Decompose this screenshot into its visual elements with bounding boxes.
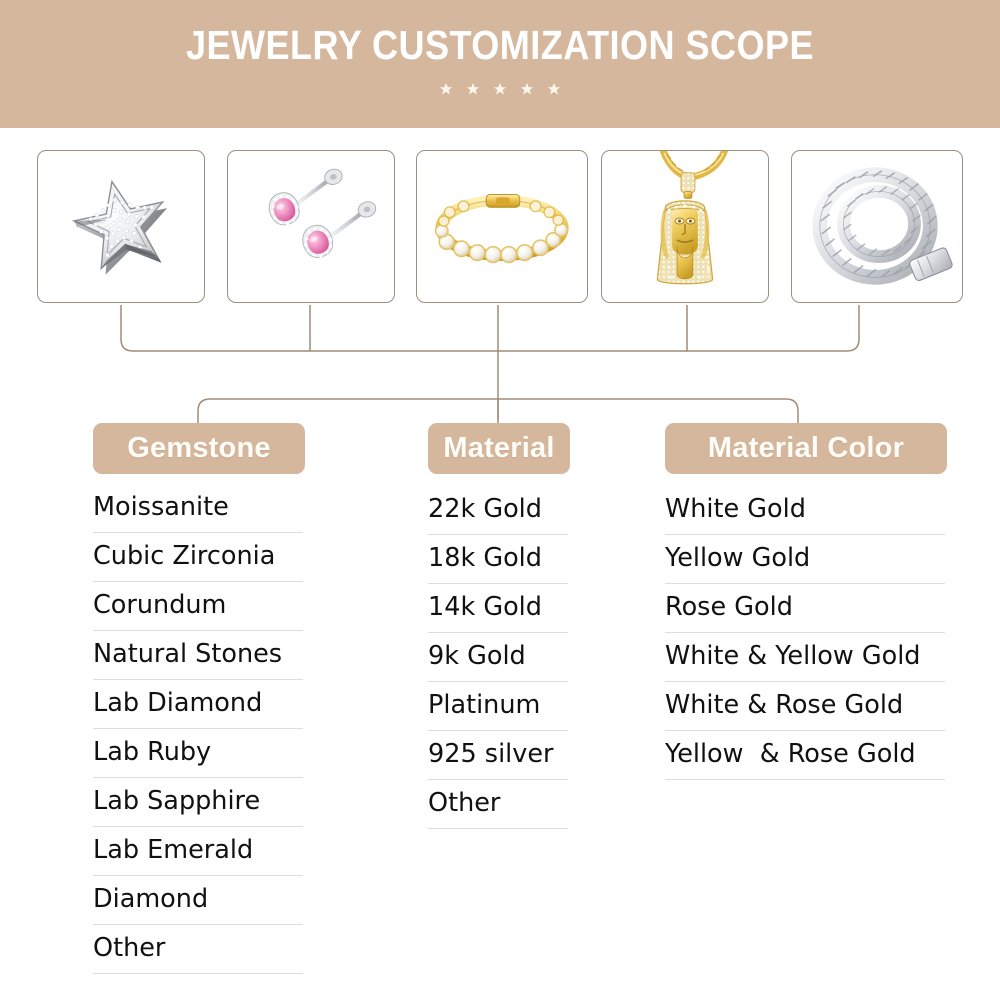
- list-item[interactable]: Other: [428, 780, 568, 829]
- star-pendant-image: [38, 151, 204, 302]
- list-item[interactable]: Other: [93, 925, 303, 974]
- list-item[interactable]: Lab Diamond: [93, 680, 303, 729]
- product-card-tennis-bracelet[interactable]: [416, 150, 588, 303]
- list-item[interactable]: Corundum: [93, 582, 303, 631]
- list-item[interactable]: Yellow Gold: [665, 535, 945, 584]
- star-icon: [493, 82, 507, 96]
- list-item[interactable]: Platinum: [428, 682, 568, 731]
- list-item[interactable]: Yellow & Rose Gold: [665, 731, 945, 780]
- tennis-bracelet-image: [417, 151, 587, 302]
- list-item[interactable]: Diamond: [93, 876, 303, 925]
- star-icon: [466, 82, 480, 96]
- list-item[interactable]: 18k Gold: [428, 535, 568, 584]
- list-item[interactable]: White & Yellow Gold: [665, 633, 945, 682]
- upper-bus: [121, 305, 859, 351]
- header-banner: JEWELRY CUSTOMIZATION SCOPE: [0, 0, 1000, 128]
- category-column-material-color: Material Color White Gold Yellow Gold Ro…: [665, 423, 947, 780]
- product-card-stud-earrings[interactable]: [227, 150, 395, 303]
- list-item[interactable]: Lab Emerald: [93, 827, 303, 876]
- lower-bus: [198, 399, 798, 423]
- page-title: JEWELRY CUSTOMIZATION SCOPE: [60, 22, 940, 69]
- list-item[interactable]: 14k Gold: [428, 584, 568, 633]
- list-item[interactable]: White & Rose Gold: [665, 682, 945, 731]
- category-column-gemstone: Gemstone Moissanite Cubic Zirconia Corun…: [93, 423, 305, 974]
- star-rating-decoration: [0, 78, 1000, 100]
- jesus-head-pendant-image: [602, 151, 768, 302]
- category-header-material-color: Material Color: [665, 423, 947, 474]
- list-item[interactable]: Moissanite: [93, 484, 303, 533]
- cuban-link-chain-image: [792, 151, 962, 302]
- list-item[interactable]: Lab Ruby: [93, 729, 303, 778]
- product-card-row: [37, 150, 963, 305]
- list-item[interactable]: Cubic Zirconia: [93, 533, 303, 582]
- category-header-gemstone: Gemstone: [93, 423, 305, 474]
- list-item[interactable]: Lab Sapphire: [93, 778, 303, 827]
- category-header-material: Material: [428, 423, 570, 474]
- stud-earrings-image: [228, 151, 394, 302]
- material-color-option-list: White Gold Yellow Gold Rose Gold White &…: [665, 486, 947, 780]
- list-item[interactable]: 9k Gold: [428, 633, 568, 682]
- product-card-cuban-link-chain[interactable]: [791, 150, 963, 303]
- star-icon: [439, 82, 453, 96]
- product-card-jesus-head-pendant[interactable]: [601, 150, 769, 303]
- product-card-star-pendant[interactable]: [37, 150, 205, 303]
- list-item[interactable]: 925 silver: [428, 731, 568, 780]
- list-item[interactable]: Rose Gold: [665, 584, 945, 633]
- star-icon: [547, 82, 561, 96]
- list-item[interactable]: Natural Stones: [93, 631, 303, 680]
- list-item[interactable]: White Gold: [665, 486, 945, 535]
- category-column-material: Material 22k Gold 18k Gold 14k Gold 9k G…: [428, 423, 570, 829]
- list-item[interactable]: 22k Gold: [428, 486, 568, 535]
- gemstone-option-list: Moissanite Cubic Zirconia Corundum Natur…: [93, 484, 305, 974]
- star-icon: [520, 82, 534, 96]
- material-option-list: 22k Gold 18k Gold 14k Gold 9k Gold Plati…: [428, 486, 570, 829]
- infographic-page: JEWELRY CUSTOMIZATION SCOPE: [0, 0, 1000, 1000]
